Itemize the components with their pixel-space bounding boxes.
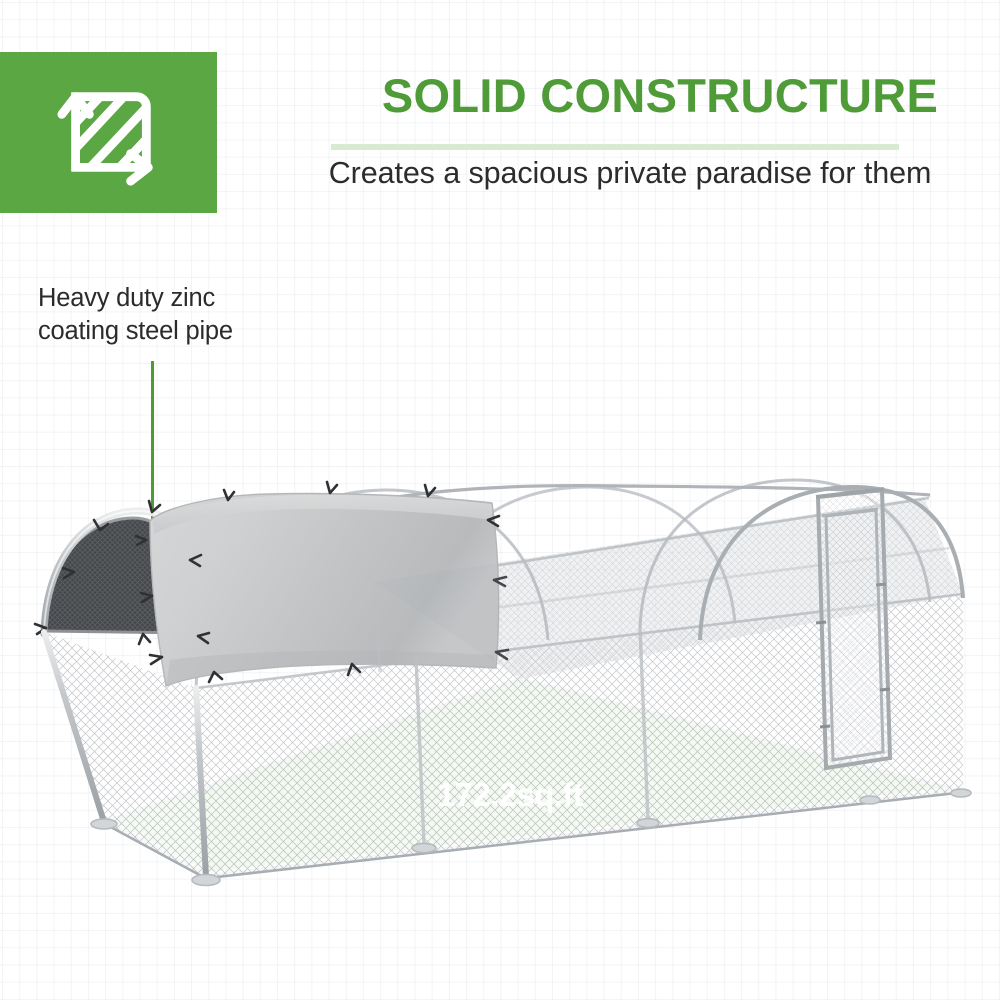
infographic-canvas: SOLID CONSTRUCTURE Creates a spacious pr… <box>0 0 1000 1000</box>
product-illustration <box>0 0 1000 1000</box>
floor-area-label: 172.2sq.ft <box>425 776 595 814</box>
